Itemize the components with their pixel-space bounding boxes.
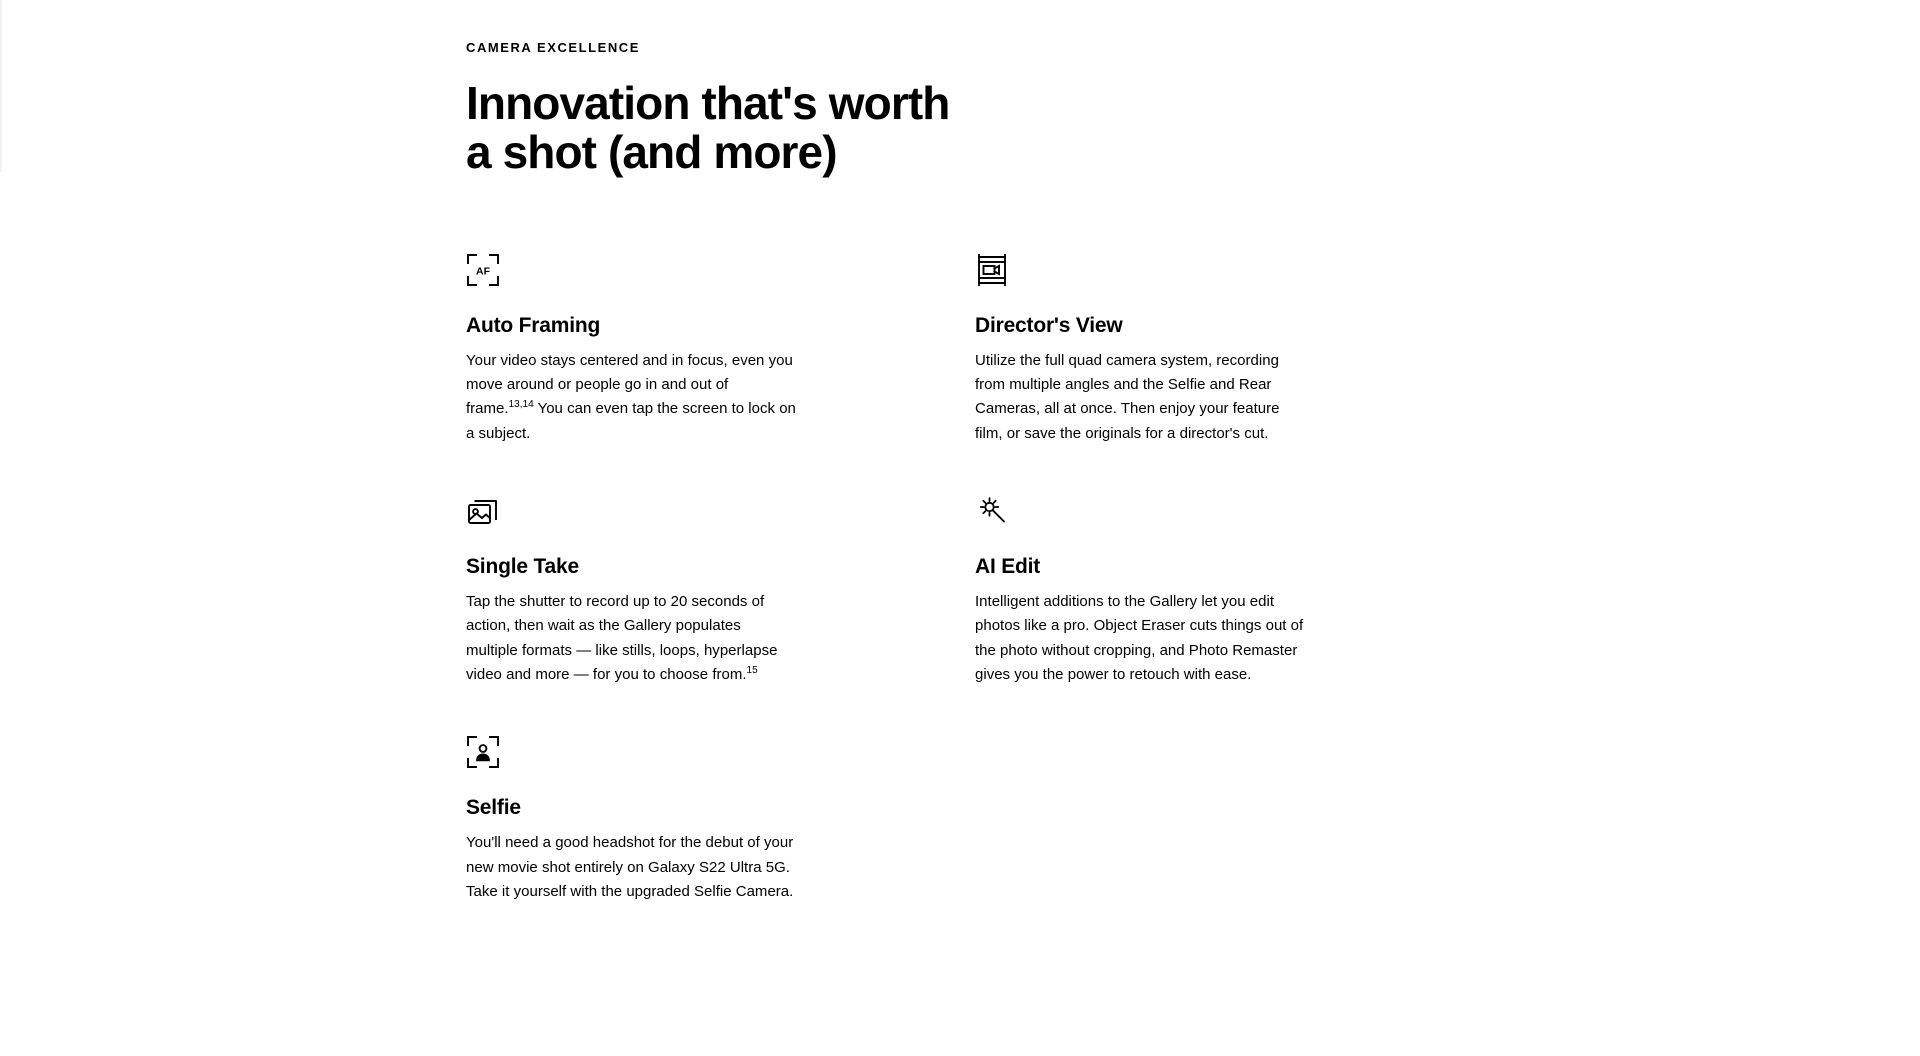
headline-line-1: Innovation that's worth [466,79,1316,128]
feature-grid: AF Auto Framing Your video stays centere… [466,253,1316,905]
feature-title: Director's View [975,313,1305,338]
feature-description: You'll need a good headshot for the debu… [466,831,796,904]
feature-title: Single Take [466,554,796,579]
section-eyebrow-label: CAMERA EXCELLENCE [466,0,1316,54]
feature-description: Utilize the full quad camera system, rec… [975,349,1305,446]
footnote-marker: 15 [747,665,758,676]
feature-body-text: You'll need a good headshot for the debu… [466,834,793,900]
magic-wand-sparkle-icon [975,494,1305,528]
feature-description: Intelligent additions to the Gallery let… [975,590,1305,687]
feature-body-text: Intelligent additions to the Gallery let… [975,593,1303,683]
feature-title: Selfie [466,795,796,820]
footnote-marker: 13,14 [509,399,534,410]
feature-card-ai-edit: AI Edit Intelligent additions to the Gal… [975,494,1305,687]
feature-description: Tap the shutter to record up to 20 secon… [466,590,796,687]
feature-body-text: Tap the shutter to record up to 20 secon… [466,593,777,683]
svg-text:AF: AF [476,265,491,277]
person-focus-bracket-icon [466,735,796,769]
left-edge-hairline [0,0,2,172]
feature-title: AI Edit [975,554,1305,579]
feature-card-directors-view: Director's View Utilize the full quad ca… [975,253,1305,446]
auto-focus-bracket-icon: AF [466,253,796,287]
camera-excellence-section: CAMERA EXCELLENCE Innovation that's wort… [466,0,1316,904]
feature-card-selfie: Selfie You'll need a good headshot for t… [466,735,796,904]
page-title: Innovation that's worth a shot (and more… [466,79,1316,177]
feature-description: Your video stays centered and in focus, … [466,349,796,446]
feature-card-auto-framing: AF Auto Framing Your video stays centere… [466,253,796,446]
film-strip-video-camera-icon [975,253,1305,287]
headline-line-2: a shot (and more) [466,128,1316,177]
feature-body-text: Utilize the full quad camera system, rec… [975,352,1280,442]
feature-title: Auto Framing [466,313,796,338]
stacked-photos-icon [466,494,796,528]
feature-card-single-take: Single Take Tap the shutter to record up… [466,494,796,687]
